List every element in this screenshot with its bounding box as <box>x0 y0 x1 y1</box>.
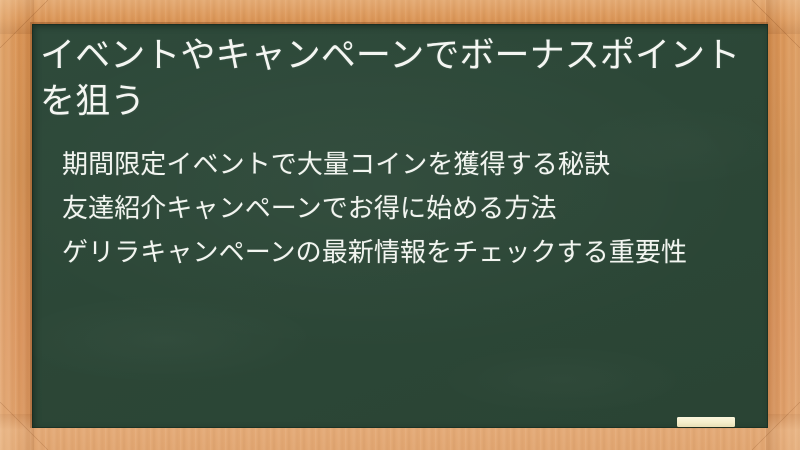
chalkboard-content: イベントやキャンペーンでボーナスポイントを狙う 期間限定イベントで大量コインを獲… <box>32 24 768 278</box>
list-item: 期間限定イベントで大量コインを獲得する秘訣 <box>62 146 742 183</box>
slide-title: イベントやキャンペーンでボーナスポイントを狙う <box>38 33 742 124</box>
frame-right-stile <box>766 0 800 450</box>
slide-bullet-list: 期間限定イベントで大量コインを獲得する秘訣 友達紹介キャンペーンでお得に始める方… <box>38 146 742 271</box>
chalkboard: イベントやキャンペーンでボーナスポイントを狙う 期間限定イベントで大量コインを獲… <box>32 24 768 428</box>
slide-canvas: イベントやキャンペーンでボーナスポイントを狙う 期間限定イベントで大量コインを獲… <box>0 0 800 450</box>
frame-left-stile <box>0 0 34 450</box>
list-item: ゲリラキャンペーンの最新情報をチェックする重要性 <box>62 234 742 271</box>
chalk-stick <box>677 417 735 427</box>
list-item: 友達紹介キャンペーンでお得に始める方法 <box>62 190 742 227</box>
